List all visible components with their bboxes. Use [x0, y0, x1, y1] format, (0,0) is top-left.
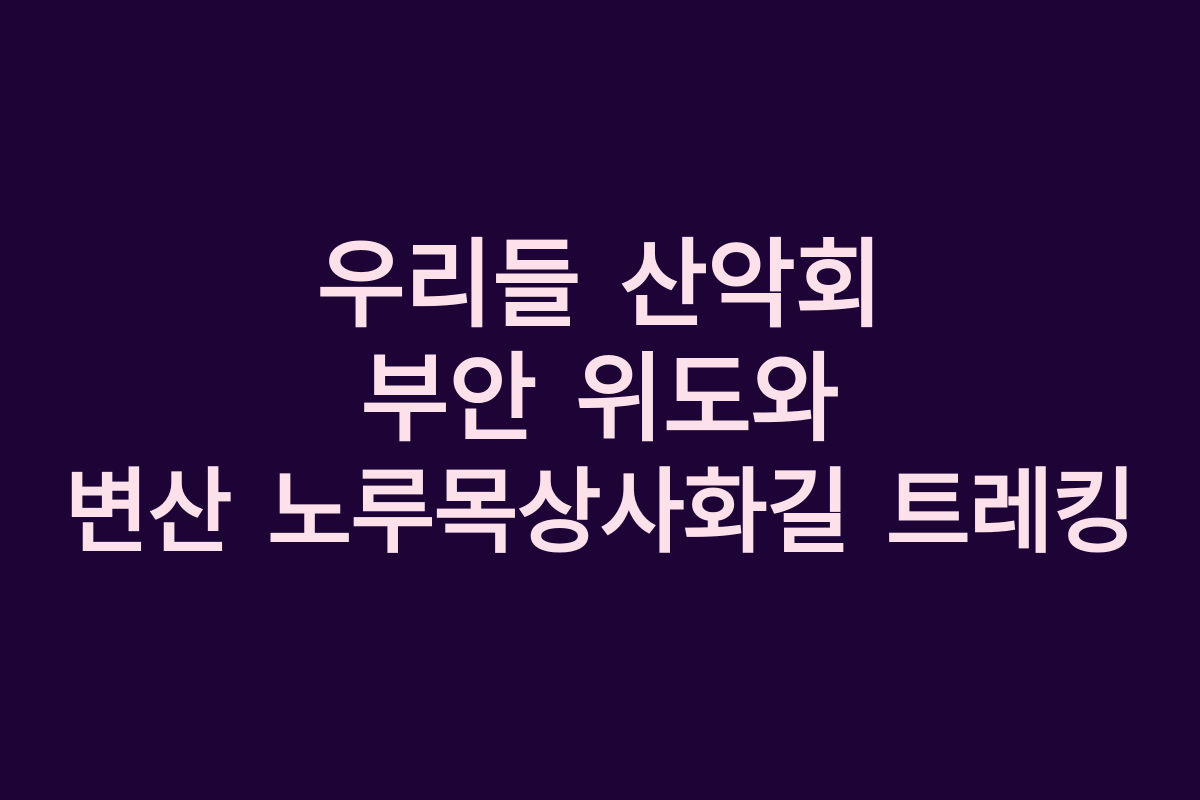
title-block: 우리들 산악회 부안 위도와 변산 노루목상사화길 트레킹 [0, 228, 1200, 570]
banner-canvas: 우리들 산악회 부안 위도와 변산 노루목상사화길 트레킹 [0, 0, 1200, 800]
title-line-2: 부안 위도와 [8, 342, 1192, 456]
title-line-3: 변산 노루목상사화길 트레킹 [8, 456, 1192, 570]
title-line-1: 우리들 산악회 [8, 228, 1192, 342]
